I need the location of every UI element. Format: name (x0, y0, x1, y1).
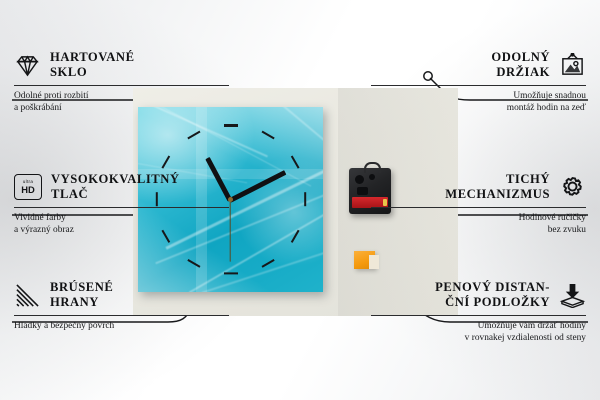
feature-title: HARTOVANÉ SKLO (50, 50, 135, 81)
feature-header: HARTOVANÉ SKLO (14, 50, 229, 81)
feature-header: BRÚSENÉ HRANY (14, 280, 229, 311)
feature-header: ODOLNÝ DRŽIAK (371, 50, 586, 81)
feature-header: ultra HD VYSOKOKVALITNÝ TLAČ (14, 172, 229, 203)
divider (371, 207, 586, 208)
divider (14, 207, 229, 208)
divider (371, 315, 586, 316)
brushed-edges-icon (14, 283, 41, 308)
divider (371, 85, 586, 86)
clock-tick (303, 192, 305, 206)
feature-description: Umožňuje snadnou montáž hodin na zeď (371, 90, 586, 115)
divider (14, 85, 229, 86)
feature-silent-mechanism: TICHÝ MECHANIZMUS Hodinové ručičky bez z… (371, 172, 586, 237)
clock-second-hand (229, 200, 230, 262)
feature-title: BRÚSENÉ HRANY (50, 280, 113, 311)
foam-pad-icon (559, 283, 586, 308)
foam-spacer-pad-secondary (369, 255, 379, 269)
feature-title: ODOLNÝ DRŽIAK (491, 50, 550, 81)
feature-durable-hanger: ODOLNÝ DRŽIAK Umožňuje snadnou montáž ho… (371, 50, 586, 115)
ultra-hd-icon: ultra HD (14, 174, 42, 200)
feature-hardened-glass: HARTOVANÉ SKLO Odolné proti rozbití a po… (14, 50, 229, 115)
mechanism-detail (357, 187, 368, 195)
feature-description: Odolné proti rozbití a poškrábání (14, 90, 229, 115)
divider (14, 315, 229, 316)
feature-title: VYSOKOKVALITNÝ TLAČ (51, 172, 180, 203)
infographic-canvas: HARTOVANÉ SKLO Odolné proti rozbití a po… (0, 0, 600, 400)
feature-foam-spacers: PENOVÝ DISTAN- ČNÍ PODLOŽKY Umožňuje vám… (371, 280, 586, 345)
feature-title: PENOVÝ DISTAN- ČNÍ PODLOŽKY (435, 280, 550, 311)
clock-tick (224, 124, 238, 126)
feature-header: PENOVÝ DISTAN- ČNÍ PODLOŽKY (371, 280, 586, 311)
clock-tick (224, 272, 238, 274)
feature-high-quality-print: ultra HD VYSOKOKVALITNÝ TLAČ Vividné far… (14, 172, 229, 237)
feature-brushed-edges: BRÚSENÉ HRANY Hladký a bezpečný povrch (14, 280, 229, 332)
feature-title: TICHÝ MECHANIZMUS (445, 172, 550, 203)
feature-description: Hladký a bezpečný povrch (14, 320, 229, 333)
feature-description: Vividné farby a výrazný obraz (14, 212, 229, 237)
feature-description: Umožňuje vám držať hodiny v rovnakej vzd… (371, 320, 586, 345)
clock-tick (261, 131, 274, 140)
feature-header: TICHÝ MECHANIZMUS (371, 172, 586, 203)
picture-hanger-icon (559, 53, 586, 78)
mechanism-detail (355, 175, 364, 184)
gear-icon (559, 175, 586, 200)
feature-description: Hodinové ručičky bez zvuku (371, 212, 586, 237)
diamond-icon (14, 53, 41, 78)
